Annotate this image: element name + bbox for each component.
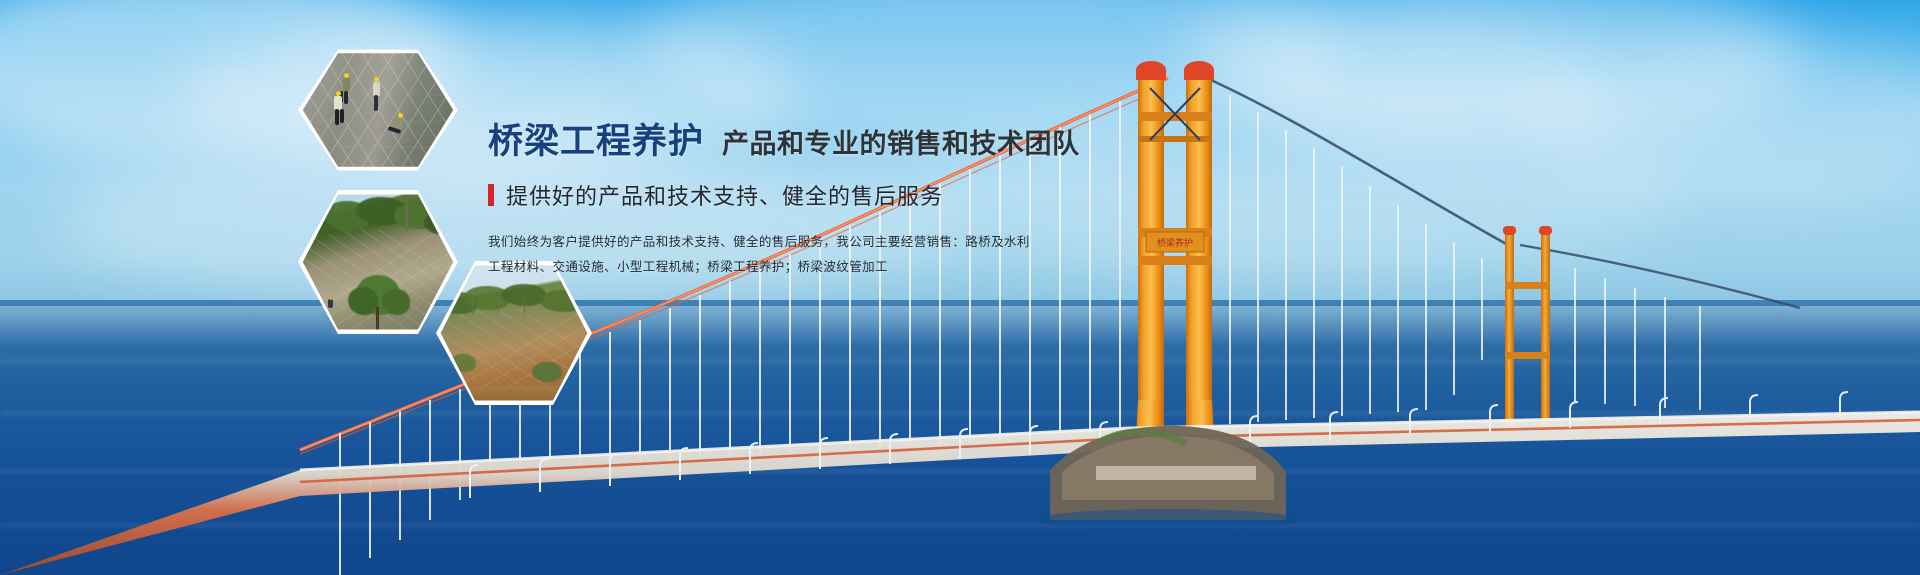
accent-bar-icon bbox=[488, 184, 494, 206]
description-line: 工程材料、交通设施、小型工程机械；桥梁工程养护；桥梁波纹管加工 bbox=[488, 258, 1048, 277]
sea-shimmer bbox=[0, 306, 1920, 346]
hero-banner: 桥梁养护 bbox=[0, 0, 1920, 575]
cloud-streak bbox=[0, 18, 300, 28]
cloud-streak bbox=[1330, 60, 1630, 70]
sea-wave-band bbox=[0, 360, 1920, 363]
sea-wave-band bbox=[0, 412, 1920, 415]
banner-copy: 桥梁工程养护产品和专业的销售和技术团队 提供好的产品和技术支持、健全的售后服务 … bbox=[488, 124, 1048, 284]
sea-wave-band bbox=[0, 524, 1920, 527]
banner-subtitle-row: 提供好的产品和技术支持、健全的售后服务 bbox=[488, 179, 1048, 211]
description-line: 我们始终为客户提供好的产品和技术支持、健全的售后服务，我公司主要经营销售：路桥及… bbox=[488, 233, 1048, 252]
sea-wave-band bbox=[0, 470, 1920, 473]
headline-primary: 桥梁工程养护 bbox=[488, 122, 704, 161]
cloud-streak bbox=[20, 48, 270, 56]
banner-headline: 桥梁工程养护产品和专业的销售和技术团队 bbox=[488, 124, 1048, 159]
cloud-shape bbox=[1250, 30, 1610, 140]
banner-description: 我们始终为客户提供好的产品和技术支持、健全的售后服务，我公司主要经营销售：路桥及… bbox=[488, 233, 1048, 278]
headline-secondary: 产品和专业的销售和技术团队 bbox=[722, 129, 1080, 159]
banner-subtitle: 提供好的产品和技术支持、健全的售后服务 bbox=[506, 179, 943, 211]
